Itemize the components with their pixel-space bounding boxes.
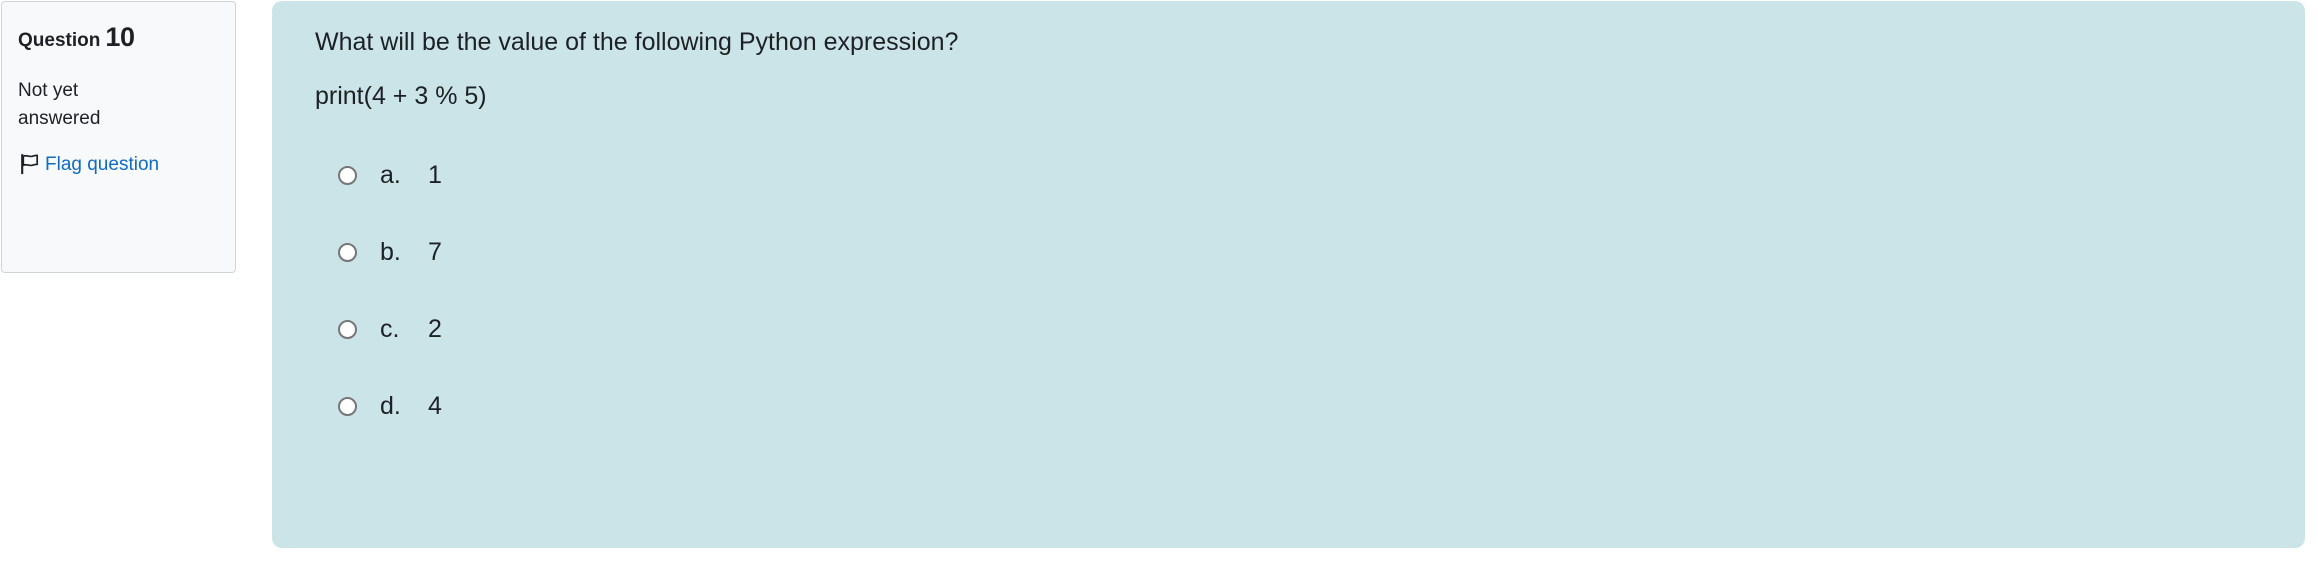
answer-letter-c: c.	[380, 317, 428, 342]
answer-option-a[interactable]: a. 1	[338, 163, 2265, 189]
radio-button-b[interactable]	[338, 243, 357, 262]
answer-option-b[interactable]: b. 7	[338, 240, 2265, 266]
answer-value-c: 2	[428, 317, 442, 342]
answer-value-b: 7	[428, 240, 442, 265]
answer-option-c[interactable]: c. 2	[338, 317, 2265, 343]
answer-value-d: 4	[428, 394, 442, 419]
question-state-text: Not yet answered	[18, 77, 148, 132]
question-heading-label: Question	[18, 30, 100, 51]
question-number: 10	[105, 22, 134, 52]
flag-question-button[interactable]: Flag question	[18, 152, 219, 176]
answer-letter-a: a.	[380, 163, 428, 188]
answer-value-a: 1	[428, 163, 442, 188]
answer-options-list: a. 1 b. 7 c. 2 d. 4	[315, 163, 2265, 420]
question-prompt: What will be the value of the following …	[315, 27, 2265, 58]
answer-letter-b: b.	[380, 240, 428, 265]
flag-outline-icon	[18, 152, 42, 176]
quiz-question-container: Question10 Not yet answered Flag questio…	[0, 0, 2318, 585]
question-content-panel: What will be the value of the following …	[272, 1, 2305, 548]
radio-button-d[interactable]	[338, 397, 357, 416]
answer-option-d[interactable]: d. 4	[338, 394, 2265, 420]
question-code-expression: print(4 + 3 % 5)	[315, 81, 2265, 112]
answer-letter-d: d.	[380, 394, 428, 419]
radio-button-c[interactable]	[338, 320, 357, 339]
radio-button-a[interactable]	[338, 166, 357, 185]
question-info-panel: Question10 Not yet answered Flag questio…	[1, 1, 236, 273]
question-heading: Question10	[18, 24, 219, 51]
flag-question-label: Flag question	[45, 155, 159, 174]
